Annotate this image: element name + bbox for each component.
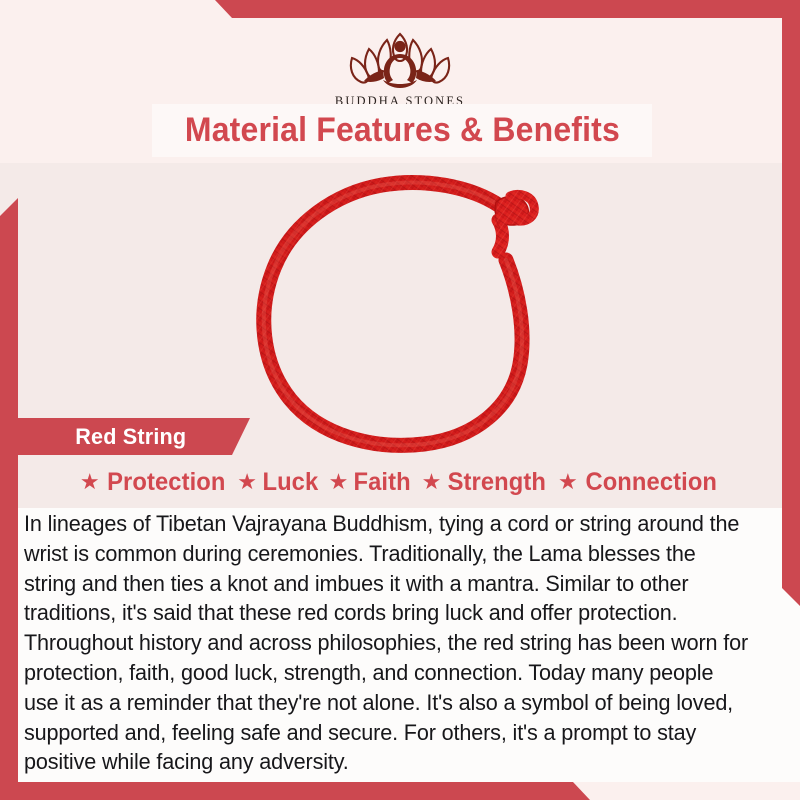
star-icon: ★	[422, 471, 442, 493]
benefit-item: ★ Strength	[422, 468, 549, 497]
benefit-label: Connection	[585, 468, 717, 497]
description-paragraph: In lineages of Tibetan Vajrayana Buddhis…	[24, 509, 750, 777]
star-icon: ★	[237, 471, 257, 493]
poster-canvas: BUDDHA STONES Material Features & Benefi…	[0, 0, 800, 800]
braided-red-string-bracelet-icon	[248, 168, 578, 456]
decor-band-bottom	[0, 782, 800, 800]
benefits-row: ★ Protection ★ Luck ★ Faith ★ Strength ★…	[0, 468, 800, 497]
benefit-label: Protection	[107, 468, 225, 497]
decor-band-top	[0, 0, 800, 18]
brand-block: BUDDHA STONES	[0, 20, 800, 109]
lotus-meditation-icon	[0, 20, 800, 92]
section-ribbon: Red String	[18, 418, 250, 455]
star-icon: ★	[80, 471, 100, 493]
page-title: Material Features & Benefits	[184, 111, 619, 150]
page-title-panel: Material Features & Benefits	[152, 104, 652, 157]
product-image	[248, 168, 578, 456]
benefit-item: ★ Luck	[237, 468, 319, 497]
benefit-item: ★ Connection	[558, 468, 720, 497]
benefit-label: Faith	[354, 468, 411, 497]
star-icon: ★	[329, 471, 349, 493]
benefit-item: ★ Faith	[329, 468, 413, 497]
benefit-item: ★ Protection	[80, 468, 228, 497]
benefit-label: Strength	[448, 468, 546, 497]
benefit-label: Luck	[262, 468, 318, 497]
section-ribbon-label: Red String	[21, 424, 186, 450]
star-icon: ★	[558, 471, 578, 493]
